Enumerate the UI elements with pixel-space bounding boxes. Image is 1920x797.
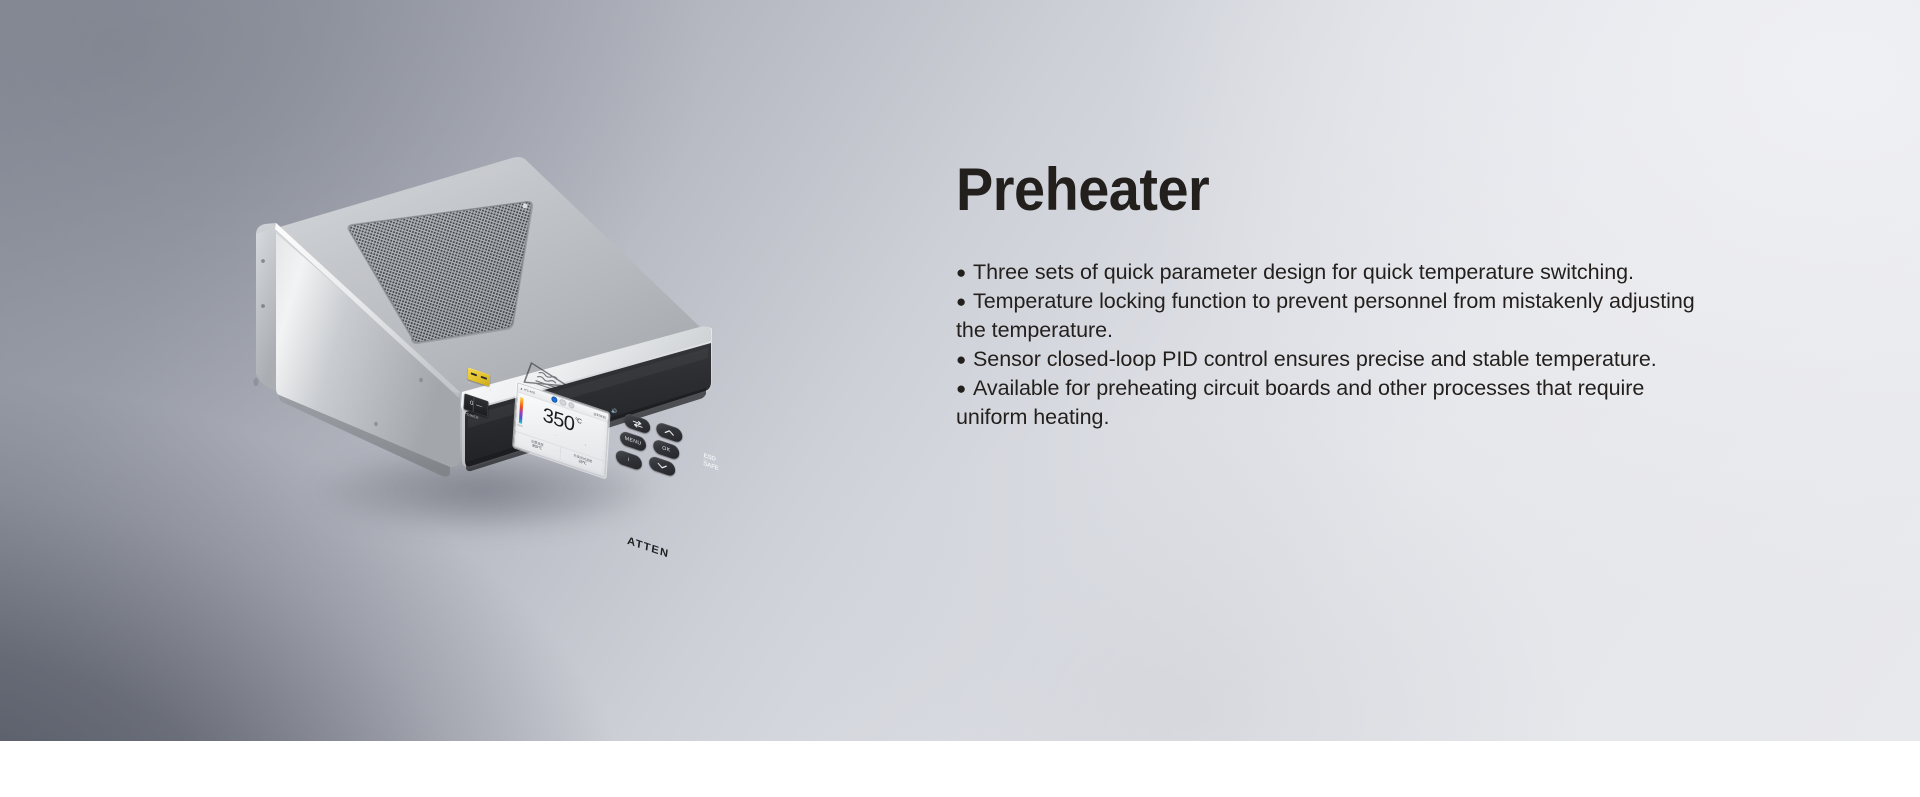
menu-button[interactable]: MENU <box>620 430 647 453</box>
tc-plus-label: + <box>489 388 491 393</box>
product-banner: ATTEN − K + 0 — <box>0 0 1920 797</box>
jack-slot-left <box>470 372 476 376</box>
increase-mark: + <box>584 443 586 448</box>
esd-safe-logo: ESD ••••• SAFE <box>703 453 728 475</box>
feature-text: Sensor closed-loop PID control ensures p… <box>973 347 1657 371</box>
feature-text: Available for preheating circuit boards … <box>956 376 1644 429</box>
chevron-down-icon <box>657 462 667 471</box>
swap-icon <box>632 418 643 429</box>
bullet-icon: ● <box>956 290 973 313</box>
tc-minus-label: − K <box>465 380 470 386</box>
switch-divider <box>473 397 475 411</box>
speaker-icon: 🔊 <box>611 408 618 416</box>
gradient-bar-label: Color <box>517 423 523 428</box>
page-title: Preheater <box>956 158 1663 222</box>
wifi-icon <box>551 396 558 404</box>
keypad: MENU OK i <box>620 412 694 509</box>
temperature-unit: °C <box>575 417 582 426</box>
lock-icon <box>568 401 575 409</box>
feature-text: Three sets of quick parameter design for… <box>973 260 1634 284</box>
jack-slot-right <box>481 376 487 380</box>
list-item: ●Sensor closed-loop PID control ensures … <box>956 345 1716 374</box>
esd-line-2: SAFE <box>703 460 719 472</box>
list-item: ●Temperature locking function to prevent… <box>956 287 1716 345</box>
list-item: ●Three sets of quick parameter design fo… <box>956 258 1716 287</box>
lcd-display[interactable]: ▲ HS-400 定时关机 Color 350°C <box>513 382 609 478</box>
bullet-icon: ● <box>956 377 973 400</box>
feature-list: ●Three sets of quick parameter design fo… <box>956 258 1716 433</box>
chevron-up-icon <box>664 428 674 437</box>
power-on-mark: — <box>476 402 482 410</box>
list-item: ●Available for preheating circuit boards… <box>956 374 1716 432</box>
text-content-block: Preheater ●Three sets of quick parameter… <box>956 158 1716 432</box>
preheater-device-image: ATTEN − K + 0 — <box>230 130 770 520</box>
fan-icon <box>560 398 567 406</box>
feature-text: Temperature locking function to prevent … <box>956 289 1695 342</box>
decrease-mark: − <box>555 433 557 438</box>
info-button[interactable]: i <box>615 449 642 472</box>
bullet-icon: ● <box>956 348 973 371</box>
bullet-icon: ● <box>956 261 973 284</box>
